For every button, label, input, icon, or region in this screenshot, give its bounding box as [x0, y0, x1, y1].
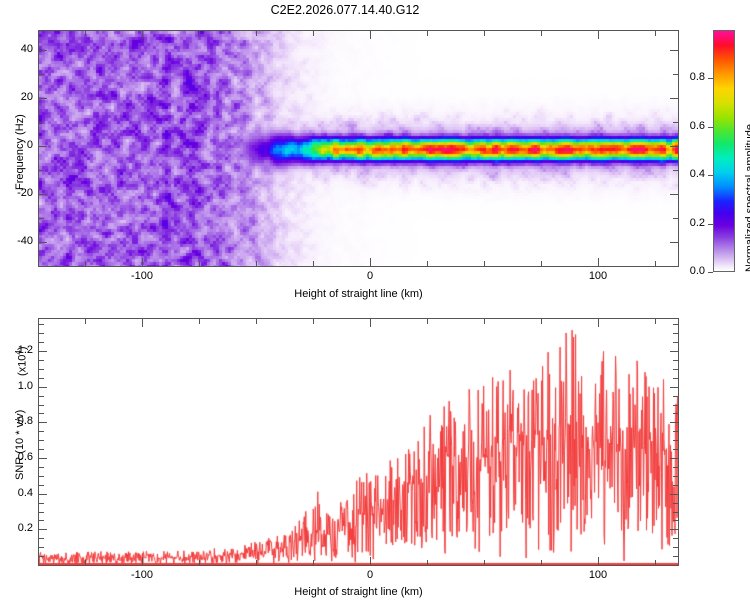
y-major-tick	[670, 351, 678, 352]
y-minor-tick	[39, 556, 44, 557]
y-minor-tick	[39, 218, 44, 219]
y-minor-tick	[673, 369, 678, 370]
x-minor-tick	[313, 319, 314, 324]
x-minor-tick	[541, 319, 542, 324]
y-minor-tick	[673, 547, 678, 548]
x-minor-tick	[199, 31, 200, 36]
page-title: C2E2.2026.077.14.40.G12	[0, 3, 690, 17]
snr-mult-exponent: 4	[14, 350, 23, 354]
x-minor-tick	[256, 31, 257, 36]
y-major-tick	[39, 529, 47, 530]
snr-xlabel: Height of straight line (km)	[38, 586, 679, 598]
figure-root: C2E2.2026.077.14.40.G12 -1000100-40-2002…	[0, 0, 750, 600]
x-minor-tick	[85, 319, 86, 324]
x-minor-tick	[85, 31, 86, 36]
y-major-tick	[39, 458, 47, 459]
y-minor-tick	[673, 485, 678, 486]
snr-ylabel: SNR (10 * v/v)	[14, 410, 26, 480]
y-major-tick	[39, 50, 47, 51]
x-minor-tick	[85, 560, 86, 565]
x-minor-tick	[541, 31, 542, 36]
y-minor-tick	[673, 476, 678, 477]
colorbar-tick-label: 0.4	[673, 168, 705, 180]
y-minor-tick	[673, 503, 678, 504]
x-tick-label: -100	[122, 270, 162, 282]
x-minor-tick	[655, 560, 656, 565]
y-minor-tick	[673, 449, 678, 450]
y-minor-tick	[39, 369, 44, 370]
x-tick-label: -100	[122, 569, 162, 581]
colorbar-tick-label: 0.2	[673, 217, 705, 229]
y-minor-tick	[39, 547, 44, 548]
x-minor-tick	[256, 261, 257, 266]
y-major-tick	[39, 146, 47, 147]
y-tick-label: 1.0	[0, 380, 33, 392]
x-major-tick	[142, 319, 143, 327]
y-major-tick	[670, 458, 678, 459]
y-minor-tick	[673, 440, 678, 441]
y-minor-tick	[39, 431, 44, 432]
x-minor-tick	[199, 319, 200, 324]
colorbar-tick	[708, 224, 713, 225]
y-major-tick	[670, 387, 678, 388]
y-minor-tick	[39, 512, 44, 513]
y-minor-tick	[39, 342, 44, 343]
spectrogram-xlabel: Height of straight line (km)	[38, 288, 679, 300]
y-major-tick	[39, 422, 47, 423]
x-major-tick	[598, 557, 599, 565]
spectrogram-image	[39, 31, 678, 266]
x-minor-tick	[655, 31, 656, 36]
y-minor-tick	[673, 512, 678, 513]
x-minor-tick	[484, 319, 485, 324]
y-major-tick	[670, 98, 678, 99]
y-minor-tick	[39, 503, 44, 504]
x-minor-tick	[256, 560, 257, 565]
y-major-tick	[39, 387, 47, 388]
colorbar-tick-label: 0.8	[673, 71, 705, 83]
y-major-tick	[39, 194, 47, 195]
y-tick-label: 20	[0, 91, 33, 103]
y-minor-tick	[673, 431, 678, 432]
y-tick-label: 40	[0, 43, 33, 55]
y-major-tick	[670, 242, 678, 243]
snr-plot-area	[38, 318, 679, 566]
y-minor-tick	[39, 333, 44, 334]
y-tick-label: 0.4	[0, 487, 33, 499]
x-minor-tick	[541, 560, 542, 565]
y-major-tick	[39, 351, 47, 352]
y-minor-tick	[673, 360, 678, 361]
y-minor-tick	[39, 378, 44, 379]
y-minor-tick	[39, 485, 44, 486]
y-minor-tick	[39, 565, 44, 566]
x-minor-tick	[427, 560, 428, 565]
colorbar-tick-label: 0.6	[673, 120, 705, 132]
colorbar-tick	[708, 175, 713, 176]
x-major-tick	[370, 557, 371, 565]
x-major-tick	[370, 31, 371, 39]
y-minor-tick	[39, 74, 44, 75]
y-major-tick	[670, 422, 678, 423]
x-minor-tick	[541, 261, 542, 266]
y-major-tick	[670, 50, 678, 51]
y-minor-tick	[673, 405, 678, 406]
x-tick-label: 0	[350, 270, 390, 282]
y-minor-tick	[673, 342, 678, 343]
y-major-tick	[39, 98, 47, 99]
y-major-tick	[39, 494, 47, 495]
y-major-tick	[670, 494, 678, 495]
x-minor-tick	[199, 261, 200, 266]
x-minor-tick	[199, 560, 200, 565]
y-minor-tick	[673, 556, 678, 557]
y-major-tick	[670, 194, 678, 195]
x-minor-tick	[313, 560, 314, 565]
y-minor-tick	[39, 476, 44, 477]
x-minor-tick	[256, 319, 257, 324]
y-minor-tick	[673, 324, 678, 325]
y-minor-tick	[39, 413, 44, 414]
y-minor-tick	[39, 405, 44, 406]
y-minor-tick	[673, 333, 678, 334]
x-minor-tick	[655, 319, 656, 324]
y-minor-tick	[39, 266, 44, 267]
x-minor-tick	[427, 319, 428, 324]
x-major-tick	[142, 557, 143, 565]
y-minor-tick	[673, 520, 678, 521]
x-minor-tick	[313, 31, 314, 36]
x-minor-tick	[484, 31, 485, 36]
x-minor-tick	[484, 261, 485, 266]
x-major-tick	[370, 258, 371, 266]
x-minor-tick	[85, 261, 86, 266]
colorbar-tick-label: 0.0	[673, 265, 705, 277]
colorbar-tick	[708, 272, 713, 273]
spectrogram-plot-area	[38, 30, 679, 267]
y-tick-label: 0.2	[0, 522, 33, 534]
colorbar-label: Normalized spectral amplitude	[744, 124, 750, 272]
x-tick-label: 100	[578, 569, 618, 581]
y-minor-tick	[39, 360, 44, 361]
y-major-tick	[39, 242, 47, 243]
x-tick-label: 0	[350, 569, 390, 581]
x-major-tick	[598, 31, 599, 39]
x-minor-tick	[427, 261, 428, 266]
y-minor-tick	[673, 538, 678, 539]
y-tick-label: -40	[0, 235, 33, 247]
y-minor-tick	[39, 520, 44, 521]
y-minor-tick	[673, 467, 678, 468]
x-major-tick	[142, 258, 143, 266]
y-minor-tick	[673, 396, 678, 397]
y-minor-tick	[673, 565, 678, 566]
colorbar-tick	[708, 78, 713, 79]
x-major-tick	[598, 319, 599, 327]
x-minor-tick	[313, 261, 314, 266]
snr-trace	[39, 319, 678, 565]
y-minor-tick	[39, 396, 44, 397]
x-minor-tick	[484, 560, 485, 565]
y-minor-tick	[673, 378, 678, 379]
y-minor-tick	[39, 122, 44, 123]
x-tick-label: 100	[578, 270, 618, 282]
y-minor-tick	[39, 324, 44, 325]
colorbar[interactable]	[713, 30, 735, 272]
x-minor-tick	[655, 261, 656, 266]
x-major-tick	[370, 319, 371, 327]
spectrogram-ylabel: Frequency (Hz)	[14, 114, 26, 190]
y-major-tick	[670, 529, 678, 530]
y-major-tick	[670, 146, 678, 147]
x-major-tick	[142, 31, 143, 39]
y-minor-tick	[39, 440, 44, 441]
x-minor-tick	[427, 31, 428, 36]
y-minor-tick	[673, 413, 678, 414]
snr-mult-close: )	[17, 346, 29, 350]
y-minor-tick	[39, 538, 44, 539]
snr-mult-base: (x10	[17, 355, 29, 376]
y-minor-tick	[39, 449, 44, 450]
x-major-tick	[598, 258, 599, 266]
colorbar-tick	[708, 127, 713, 128]
y-minor-tick	[39, 467, 44, 468]
y-minor-tick	[39, 170, 44, 171]
